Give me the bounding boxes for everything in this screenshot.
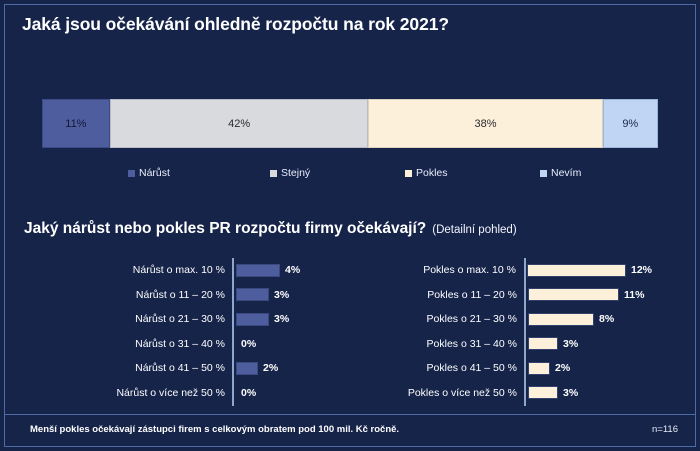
bar-track: 2% (524, 356, 652, 381)
slide-canvas: Jaká jsou očekávání ohledně rozpočtu na … (0, 0, 700, 451)
row-label: Pokles o 41 – 50 % (352, 362, 524, 374)
table-row: Pokles o 31 – 40 % 3% (352, 332, 652, 357)
bar-track: 3% (232, 283, 360, 308)
row-label: Pokles o více než 50 % (352, 387, 524, 399)
stacked-segment-pokles: 38% (368, 99, 602, 148)
row-label: Pokles o 11 – 20 % (352, 289, 524, 301)
legend-swatch-pokles (405, 170, 412, 177)
table-row: Pokles o více než 50 % 3% (352, 381, 652, 406)
footnote-text: Menší pokles očekávají zástupci firem s … (30, 424, 399, 435)
bar-track: 2% (232, 356, 360, 381)
bar-track: 11% (524, 283, 652, 308)
bar-track: 4% (232, 258, 360, 283)
table-row: Nárůst o 41 – 50 % 2% (60, 356, 360, 381)
stacked-segment-nevim: 9% (603, 99, 658, 148)
bar-value: 3% (563, 387, 578, 399)
bar-track: 3% (524, 332, 652, 357)
bar-track: 0% (232, 332, 360, 357)
bar (528, 386, 558, 399)
table-row: Nárůst o 21 – 30 % 3% (60, 307, 360, 332)
row-label: Nárůst o 31 – 40 % (60, 338, 232, 350)
bar (236, 313, 269, 326)
footer-divider (5, 414, 695, 415)
legend-item-pokles: Pokles (405, 167, 448, 179)
bar-value: 8% (599, 313, 614, 325)
table-row: Nárůst o 11 – 20 % 3% (60, 283, 360, 308)
table-row: Nárůst o max. 10 % 4% (60, 258, 360, 283)
legend-item-nevim: Nevím (540, 167, 581, 179)
bar (236, 362, 258, 375)
table-row: Pokles o 21 – 30 % 8% (352, 307, 652, 332)
legend-label-stejny: Stejný (281, 167, 310, 179)
bar-value: 0% (241, 387, 256, 399)
row-label: Pokles o max. 10 % (352, 264, 523, 276)
bar-track: 12% (523, 258, 652, 283)
row-label: Nárůst o více než 50 % (60, 387, 232, 399)
bar (528, 288, 619, 301)
bar (527, 264, 626, 277)
bar-value: 11% (624, 289, 644, 301)
table-row: Nárůst o více než 50 % 0% (60, 381, 360, 406)
legend-label-narust: Nárůst (139, 167, 170, 179)
table-row: Nárůst o 31 – 40 % 0% (60, 332, 360, 357)
bar-value: 2% (555, 362, 570, 374)
bar (528, 337, 558, 350)
legend-label-pokles: Pokles (416, 167, 448, 179)
chart-legend: Nárůst Stejný Pokles Nevím (42, 167, 658, 183)
table-row: Pokles o max. 10 % 12% (352, 258, 652, 283)
legend-swatch-narust (128, 170, 135, 177)
detail-chart-narust: Nárůst o max. 10 % 4% Nárůst o 11 – 20 %… (60, 258, 360, 406)
bar-value: 3% (274, 289, 289, 301)
bar-track: 8% (524, 307, 652, 332)
bar (528, 362, 550, 375)
detail-chart-pokles: Pokles o max. 10 % 12% Pokles o 11 – 20 … (352, 258, 652, 406)
row-label: Nárůst o max. 10 % (60, 264, 232, 276)
row-label: Nárůst o 41 – 50 % (60, 362, 232, 374)
section-title: Jaký nárůst nebo pokles PR rozpočtu firm… (24, 220, 517, 238)
table-row: Pokles o 11 – 20 % 11% (352, 283, 652, 308)
legend-swatch-nevim (540, 170, 547, 177)
bar (236, 264, 280, 277)
sample-size-label: n=116 (652, 424, 678, 435)
bar-value: 3% (563, 338, 578, 350)
legend-label-nevim: Nevím (551, 167, 581, 179)
row-label: Nárůst o 11 – 20 % (60, 289, 232, 301)
bar-value: 0% (241, 338, 256, 350)
bar (236, 288, 269, 301)
bar-track: 3% (524, 381, 652, 406)
page-title: Jaká jsou očekávání ohledně rozpočtu na … (22, 14, 449, 35)
section-title-subtitle: (Detailní pohled) (432, 224, 516, 236)
bar-value: 3% (274, 313, 289, 325)
bar-value: 4% (285, 264, 300, 276)
stacked-segment-narust: 11% (42, 99, 110, 148)
legend-swatch-stejny (270, 170, 277, 177)
row-label: Pokles o 21 – 30 % (352, 313, 524, 325)
table-row: Pokles o 41 – 50 % 2% (352, 356, 652, 381)
bar-track: 3% (232, 307, 360, 332)
bar-track: 0% (232, 381, 360, 406)
row-label: Nárůst o 21 – 30 % (60, 313, 232, 325)
row-label: Pokles o 31 – 40 % (352, 338, 524, 350)
legend-item-narust: Nárůst (128, 167, 170, 179)
section-title-main: Jaký nárůst nebo pokles PR rozpočtu firm… (24, 220, 426, 237)
bar-value: 12% (631, 264, 652, 276)
bar (528, 313, 594, 326)
bar-value: 2% (263, 362, 278, 374)
legend-item-stejny: Stejný (270, 167, 310, 179)
stacked-segment-stejny: 42% (110, 99, 369, 148)
stacked-bar-chart: 11% 42% 38% 9% (42, 99, 658, 148)
